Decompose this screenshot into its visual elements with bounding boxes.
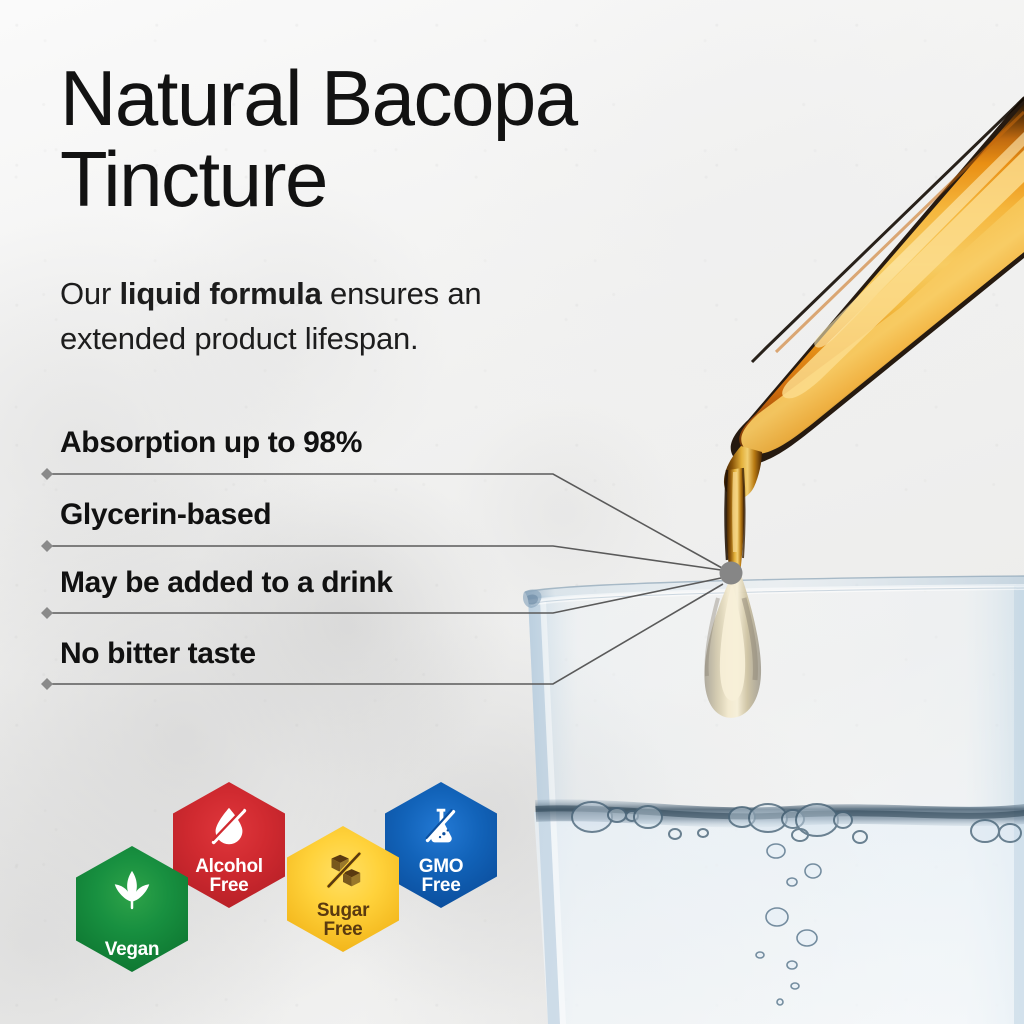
badge-vegan-label: Vegan	[105, 940, 159, 960]
feature-label-taste: No bitter taste	[60, 637, 256, 671]
no-droplet-icon	[206, 804, 252, 850]
badge-alcohol-label: Alcohol Free	[195, 857, 263, 897]
feature-label-absorption: Absorption up to 98%	[60, 426, 362, 460]
subtitle-prefix: Our	[60, 276, 120, 311]
badge-gmo-label: GMO Free	[419, 857, 464, 897]
no-flask-icon	[418, 804, 464, 850]
subtitle: Our liquid formula ensures an extended p…	[60, 272, 600, 361]
feature-label-drink: May be added to a drink	[60, 566, 393, 600]
product-infographic: Natural Bacopa Tincture Our liquid formu…	[0, 0, 1024, 1024]
leaf-icon	[109, 868, 155, 914]
no-sugar-cube-icon	[320, 848, 366, 894]
badge-sugar-label: Sugar Free	[317, 901, 369, 941]
subtitle-emphasis: liquid formula	[120, 276, 322, 311]
feature-label-glycerin: Glycerin-based	[60, 498, 271, 532]
page-title: Natural Bacopa Tincture	[60, 58, 680, 220]
